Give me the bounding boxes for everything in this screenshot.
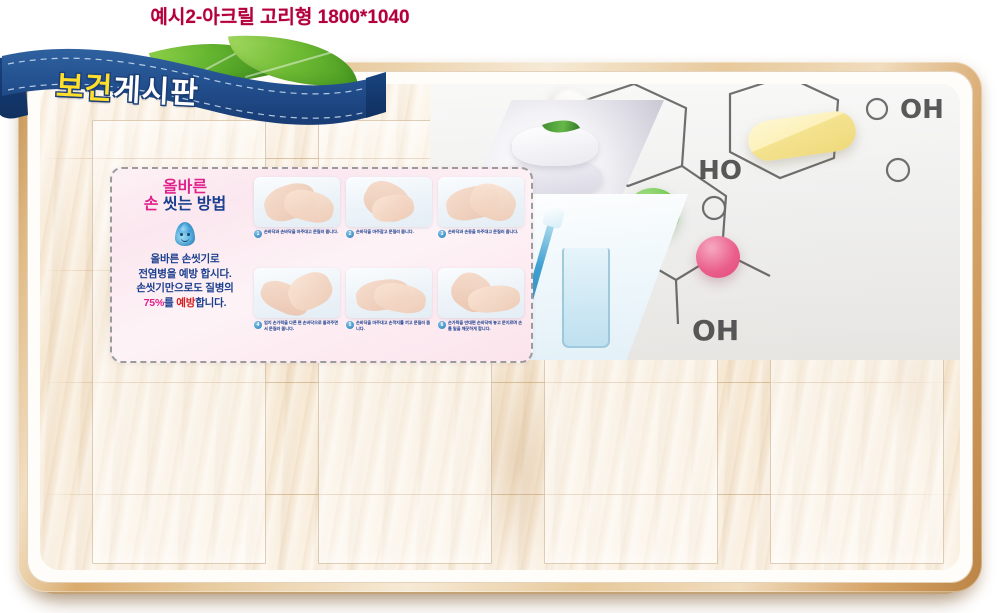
toothbrush-head: [542, 206, 566, 230]
banner-title-part2: 게시판: [112, 73, 199, 110]
banner-title-part1: 보건: [55, 70, 114, 106]
step-number-icon: 4: [254, 321, 262, 329]
handwashing-poster[interactable]: 올바른 손 씻는 방법 올바른 손씻기로 전염: [110, 167, 533, 363]
poster-text-column: 올바른 손 씻는 방법 올바른 손씻기로 전염: [120, 175, 250, 353]
handwashing-step: 5 손바닥을 마주대고 손깍지를 끼고 문질러 줍니다.: [346, 268, 432, 355]
board-wooden-frame: OH OH OH: [18, 62, 982, 592]
svg-text:OH: OH: [698, 153, 742, 183]
poster-heading-pink: 손: [144, 196, 159, 213]
step-caption-2: 2 손바닥을 마주잡고 문질러 줍니다.: [346, 229, 432, 238]
step-number-icon: 1: [254, 230, 262, 238]
poster-body-line-3: 손씻기만으로도 질병의: [120, 281, 250, 296]
water-droplet-icon: [175, 222, 195, 246]
board-inner-bevel: OH OH OH: [27, 71, 973, 583]
poster-heading-blue: 씻는 방법: [158, 196, 226, 213]
poster-line4-mid: 를: [164, 297, 176, 309]
poster-body-line-2: 전염병을 예방 합시다.: [120, 267, 250, 282]
droplet-icon-wrap: [120, 222, 250, 246]
svg-text:OH: OH: [900, 95, 944, 125]
handwashing-step-grid: 1 손바닥과 손바닥을 마주대고 문질러 줍니다. 2 손바닥: [254, 177, 524, 355]
step-caption-4: 4 엄지 손가락을 다른 편 손바닥으로 돌려주면서 문질러 줍니다.: [254, 320, 340, 332]
handwashing-step: 6 손가락을 반대편 손바닥에 놓고 문지르며 손톱 밑을 깨끗하게 합니다.: [438, 268, 524, 355]
pink-round-pill: [696, 236, 740, 278]
step-photo-6: [438, 268, 524, 318]
hand-shape: [281, 185, 337, 226]
handwashing-step: 1 손바닥과 손바닥을 마주대고 문질러 줍니다.: [254, 177, 340, 264]
step-caption-6: 6 손가락을 반대편 손바닥에 놓고 문지르며 손톱 밑을 깨끗하게 합니다.: [438, 320, 524, 332]
step-photo-5: [346, 268, 432, 318]
handwashing-step: 2 손바닥을 마주잡고 문질러 줍니다.: [346, 177, 432, 264]
board-wood-surface: OH OH OH: [40, 84, 960, 570]
board-title-banner: 보건게시판: [0, 44, 394, 136]
step-number-icon: 3: [438, 230, 446, 238]
step-caption-text: 손바닥과 손등을 마주대고 문질러 줍니다.: [448, 229, 518, 235]
step-caption-3: 3 손바닥과 손등을 마주대고 문질러 줍니다.: [438, 229, 524, 238]
step-caption-text: 손바닥과 손바닥을 마주대고 문질러 줍니다.: [264, 229, 338, 235]
page-title-text: 예시2-아크릴 고리형 1800*1040: [150, 2, 409, 29]
droplet-smile: [181, 237, 189, 242]
step-number-icon: 5: [346, 321, 354, 329]
handwashing-step: 3 손바닥과 손등을 마주대고 문질러 줍니다.: [438, 177, 524, 264]
step-caption-1: 1 손바닥과 손바닥을 마주대고 문질러 줍니다.: [254, 229, 340, 238]
step-caption-text: 엄지 손가락을 다른 편 손바닥으로 돌려주면서 문질러 줍니다.: [264, 320, 340, 332]
step-number-icon: 2: [346, 230, 354, 238]
step-photo-2: [346, 177, 432, 227]
svg-text:OH: OH: [692, 314, 739, 347]
water-glass: [562, 248, 610, 348]
step-caption-5: 5 손바닥을 마주대고 손깍지를 끼고 문질러 줍니다.: [346, 320, 432, 332]
step-photo-1: [254, 177, 340, 227]
poster-body-line-1: 올바른 손씻기로: [120, 252, 250, 267]
poster-percent-accent: 75%: [144, 297, 164, 309]
poster-body-line-4: 75%를 예방합니다.: [120, 296, 250, 311]
page-title: 예시2-아크릴 고리형 1800*1040: [0, 2, 1000, 29]
step-caption-text: 손바닥을 마주잡고 문질러 줍니다.: [356, 229, 414, 235]
step-photo-3: [438, 177, 524, 227]
step-caption-text: 손바닥을 마주대고 손깍지를 끼고 문질러 줍니다.: [356, 320, 432, 332]
handwashing-step: 4 엄지 손가락을 다른 편 손바닥으로 돌려주면서 문질러 줍니다.: [254, 268, 340, 355]
step-number-icon: 6: [438, 321, 446, 329]
poster-body-text: 올바른 손씻기로 전염병을 예방 합시다. 손씻기만으로도 질병의 75%를 예…: [120, 252, 250, 312]
step-photo-4: [254, 268, 340, 318]
poster-heading: 올바른 손 씻는 방법: [120, 179, 250, 215]
poster-line4-end: 합니다.: [195, 297, 226, 309]
hand-shape: [372, 280, 428, 317]
poster-heading-line1: 올바른: [120, 179, 250, 196]
droplet-eye-left: [180, 233, 183, 236]
health-bulletin-board: OH OH OH: [18, 62, 982, 592]
droplet-eye-right: [187, 233, 190, 236]
poster-heading-line2: 손 씻는 방법: [120, 196, 250, 214]
step-caption-text: 손가락을 반대편 손바닥에 놓고 문지르며 손톱 밑을 깨끗하게 합니다.: [448, 320, 524, 332]
poster-prevent-accent: 예방: [176, 297, 195, 309]
